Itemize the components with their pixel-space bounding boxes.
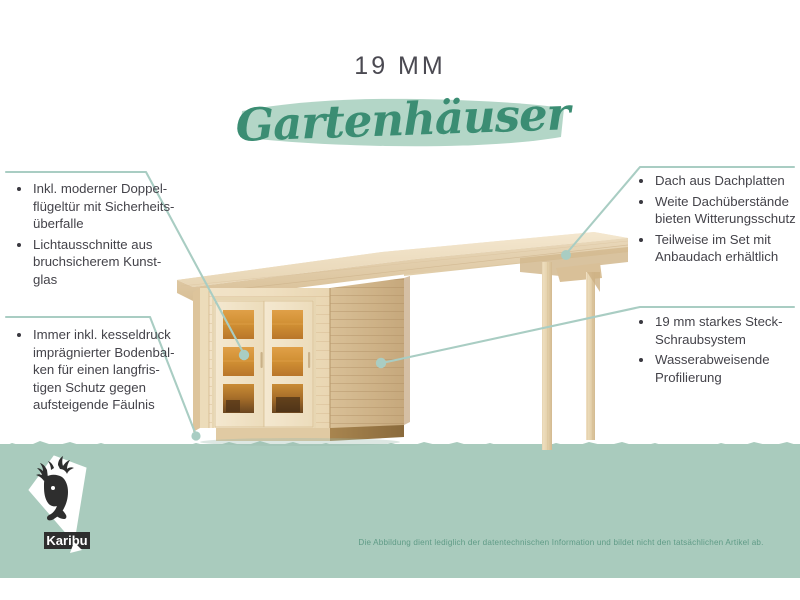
connector-dot-wall xyxy=(376,358,386,368)
list-item: Lichtausschnitte aus bruchsicherem Kunst… xyxy=(14,236,200,289)
callout-line: glas xyxy=(33,272,57,287)
infographic-canvas: 19 MM Gartenhäuser Inkl. moderner Doppel xyxy=(0,0,800,600)
callout-bottom-right-list: 19 mm starkes Steck-Schraubsystem Wasser… xyxy=(636,313,800,386)
karibu-logo: Karibu xyxy=(24,450,120,558)
callout-top-right-list: Dach aus Dachplatten Weite Dachüberständ… xyxy=(636,172,800,266)
callout-line: flügeltür mit Sicherheits- xyxy=(33,199,174,214)
list-item: Teilweise im Set mit Anbaudach erhältlic… xyxy=(636,231,800,266)
callout-top-left-list: Inkl. moderner Doppel- flügeltür mit Sic… xyxy=(14,180,200,288)
callout-line: bruchsicherem Kunst- xyxy=(33,254,161,269)
callout-line: tigen Schutz gegen xyxy=(33,380,146,395)
callout-bottom-left: Immer inkl. kesseldruck imprägnierter Bo… xyxy=(14,326,204,417)
list-item: Immer inkl. kesseldruck imprägnierter Bo… xyxy=(14,326,204,414)
list-item: Dach aus Dachplatten xyxy=(636,172,800,190)
callout-line: Inkl. moderner Doppel- xyxy=(33,181,167,196)
connector-dot-roof xyxy=(561,250,571,260)
footer-disclaimer: Die Abbildung dient lediglich der datent… xyxy=(330,538,792,547)
callout-line: Lichtausschnitte aus xyxy=(33,237,153,252)
list-item: Wasserabweisende Profilierung xyxy=(636,351,800,386)
callout-bottom-right: 19 mm starkes Steck-Schraubsystem Wasser… xyxy=(636,313,800,389)
callout-line: Immer inkl. kesseldruck xyxy=(33,327,171,342)
list-item: Weite Dachüberstände bieten Witterungssc… xyxy=(636,193,800,228)
logo-wordmark: Karibu xyxy=(46,533,87,548)
connector-dot-base xyxy=(191,431,200,440)
callout-connector-lines xyxy=(0,0,800,600)
callout-line: imprägnierter Bodenbal- xyxy=(33,345,174,360)
list-item: 19 mm starkes Steck-Schraubsystem xyxy=(636,313,800,348)
callout-line: aufsteigende Fäulnis xyxy=(33,397,155,412)
callout-top-left: Inkl. moderner Doppel- flügeltür mit Sic… xyxy=(14,180,200,291)
list-item: Inkl. moderner Doppel- flügeltür mit Sic… xyxy=(14,180,200,233)
callout-bottom-left-list: Immer inkl. kesseldruck imprägnierter Bo… xyxy=(14,326,204,414)
callout-line: überfalle xyxy=(33,216,84,231)
callout-top-right: Dach aus Dachplatten Weite Dachüberständ… xyxy=(636,172,800,269)
connector-dot-door xyxy=(239,350,249,360)
callout-line: ken für einen langfris- xyxy=(33,362,160,377)
